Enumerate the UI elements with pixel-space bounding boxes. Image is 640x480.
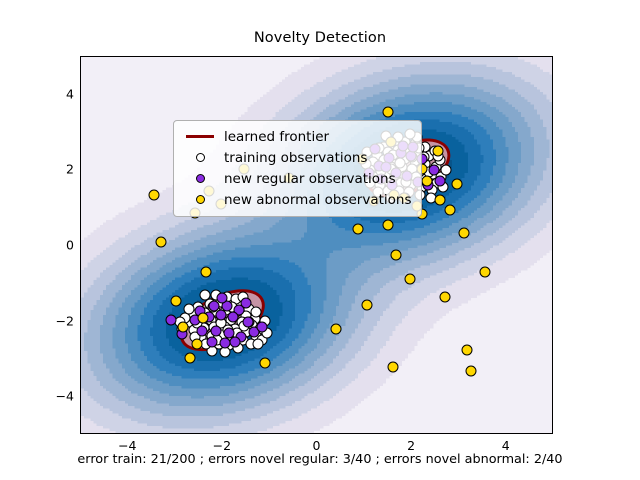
abnormal-point	[383, 106, 394, 117]
regular-point	[165, 314, 176, 325]
legend: learned frontier training observations n…	[173, 120, 422, 217]
y-tick	[80, 321, 81, 322]
training-point	[183, 303, 194, 314]
x-tick-label: −4	[118, 438, 136, 453]
regular-point	[197, 326, 208, 337]
y-tick-label: 0	[66, 238, 74, 253]
legend-item-label: new regular observations	[224, 171, 396, 187]
training-point	[252, 339, 263, 350]
regular-point	[435, 175, 446, 186]
regular-marker-icon	[183, 174, 217, 183]
training-point	[251, 306, 262, 317]
abnormal-point	[404, 274, 415, 285]
y-tick-label: −4	[56, 389, 74, 404]
y-tick	[80, 245, 81, 246]
training-point	[199, 290, 210, 301]
regular-point	[428, 165, 439, 176]
x-tick-label: 4	[502, 438, 510, 453]
abnormal-point	[352, 223, 363, 234]
regular-point	[230, 337, 241, 348]
legend-item-new-regular-observations: new regular observations	[183, 168, 412, 189]
legend-item-learned-frontier: learned frontier	[183, 126, 412, 147]
abnormal-point	[177, 322, 188, 333]
abnormal-point	[422, 175, 433, 186]
abnormal-point	[444, 205, 455, 216]
page-title: Novelty Detection	[0, 30, 640, 46]
scatter-points-layer	[81, 57, 552, 433]
abnormal-point	[201, 267, 212, 278]
abnormal-point	[184, 352, 195, 363]
abnormal-point	[191, 339, 202, 350]
abnormal-point	[331, 324, 342, 335]
regular-point	[228, 312, 239, 323]
frontier-line-icon	[183, 135, 217, 137]
abnormal-point	[459, 227, 470, 238]
x-tick-label: 0	[313, 438, 321, 453]
abnormal-point	[149, 189, 160, 200]
legend-item-label: new abnormal observations	[224, 192, 412, 208]
y-tick-label: 4	[66, 86, 74, 101]
y-tick	[80, 170, 81, 171]
error-summary-caption: error train: 21/200 ; errors novel regul…	[0, 452, 640, 467]
abnormal-point	[362, 299, 373, 310]
legend-item-label: learned frontier	[224, 129, 329, 145]
training-point	[441, 165, 452, 176]
x-tick-label: −2	[213, 438, 231, 453]
abnormal-point	[170, 295, 181, 306]
abnormal-point	[260, 358, 271, 369]
abnormal-point	[480, 267, 491, 278]
y-tick	[80, 94, 81, 95]
abnormal-point	[466, 365, 477, 376]
abnormal-point	[452, 178, 463, 189]
y-tick-label: 2	[66, 162, 74, 177]
legend-item-new-abnormal-observations: new abnormal observations	[183, 189, 412, 210]
x-tick-label: 2	[407, 438, 415, 453]
abnormal-point	[433, 145, 444, 156]
regular-point	[240, 298, 251, 309]
training-marker-icon	[183, 153, 217, 162]
plot-axes: learned frontier training observations n…	[80, 56, 553, 434]
regular-point	[256, 321, 267, 332]
regular-point	[216, 309, 227, 320]
regular-point	[207, 337, 218, 348]
abnormal-point	[440, 292, 451, 303]
abnormal-point	[434, 194, 445, 205]
regular-point	[211, 325, 222, 336]
regular-point	[216, 293, 227, 304]
y-tick	[80, 397, 81, 398]
legend-item-label: training observations	[224, 150, 367, 166]
abnormal-point	[383, 220, 394, 231]
abnormal-marker-icon	[183, 195, 217, 204]
abnormal-point	[198, 312, 209, 323]
abnormal-point	[390, 250, 401, 261]
legend-item-training-observations: training observations	[183, 147, 412, 168]
regular-point	[219, 337, 230, 348]
y-tick-label: −2	[56, 313, 74, 328]
matplotlib-figure: Novelty Detection learned frontier train…	[0, 0, 640, 480]
abnormal-point	[388, 361, 399, 372]
abnormal-point	[156, 237, 167, 248]
abnormal-point	[461, 344, 472, 355]
